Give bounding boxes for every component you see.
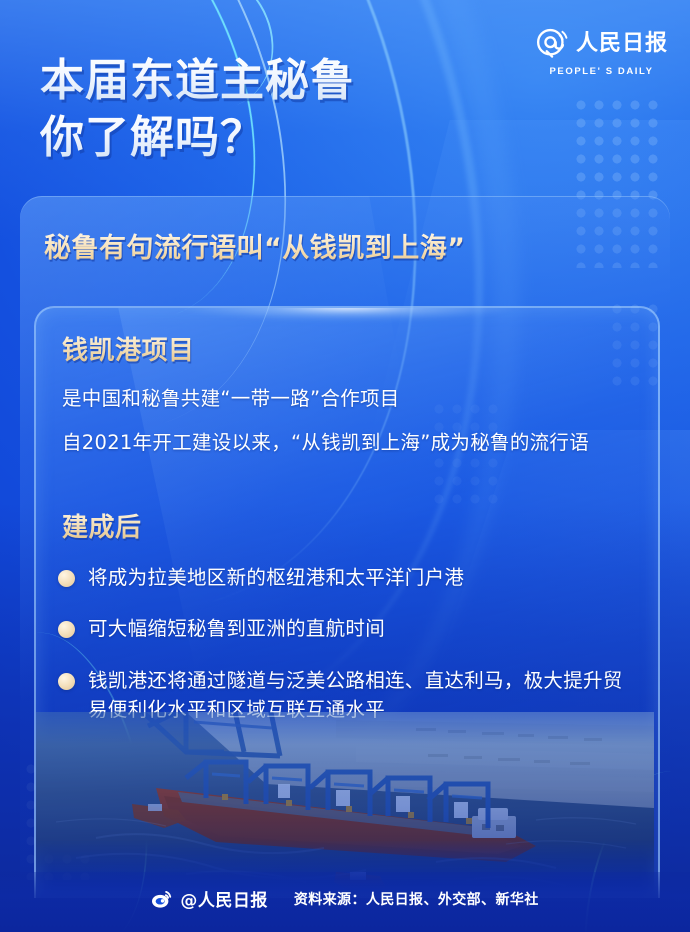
project-paragraph-2: 自2021年开工建设以来，“从钱凯到上海”成为秘鲁的流行语: [62, 428, 634, 458]
bullet-dot-icon: [58, 621, 75, 638]
port-photo: [36, 712, 654, 890]
page-title: 本届东道主秘鲁 你了解吗？: [40, 52, 355, 166]
brand-logo: 人民日报 PEOPLE' S DAILY: [535, 26, 668, 77]
list-item-label: 可大幅缩短秘鲁到亚洲的直航时间: [88, 614, 385, 643]
at-sign-icon: [535, 26, 571, 62]
source-credit: 资料来源：人民日报、外交部、新华社: [294, 889, 539, 909]
bullet-dot-icon: [58, 570, 75, 587]
list-item-label: 将成为拉美地区新的枢纽港和太平洋门户港: [88, 563, 464, 592]
section-heading-after-completion: 建成后: [62, 513, 142, 544]
brand-logo-row: 人民日报: [535, 26, 668, 62]
list-item: 可大幅缩短秘鲁到亚洲的直航时间: [58, 614, 638, 643]
photo-veil: [36, 712, 654, 890]
weibo-icon: [151, 889, 173, 909]
page-title-line-2: 你了解吗？: [40, 109, 355, 166]
footer: @人民日报 资料来源：人民日报、外交部、新华社: [0, 872, 690, 932]
project-paragraph-1: 是中国和秘鲁共建“一带一路”合作项目: [62, 384, 632, 414]
bullet-dot-icon: [58, 673, 75, 690]
list-item: 将成为拉美地区新的枢纽港和太平洋门户港: [58, 563, 638, 592]
page-title-line-1: 本届东道主秘鲁: [40, 52, 355, 109]
header: 人民日报 PEOPLE' S DAILY 本届东道主秘鲁 你了解吗？: [0, 0, 690, 196]
footer-row: @人民日报 资料来源：人民日报、外交部、新华社: [0, 886, 690, 911]
brand-name-cn: 人民日报: [576, 33, 668, 55]
section-subtitle: 秘鲁有句流行语叫“从钱凯到上海”: [44, 233, 644, 265]
section-heading-project: 钱凯港项目: [62, 336, 195, 367]
weibo-handle-label: @人民日报: [180, 886, 268, 911]
weibo-account[interactable]: @人民日报: [151, 886, 268, 911]
brand-name-en: PEOPLE' S DAILY: [549, 66, 653, 77]
